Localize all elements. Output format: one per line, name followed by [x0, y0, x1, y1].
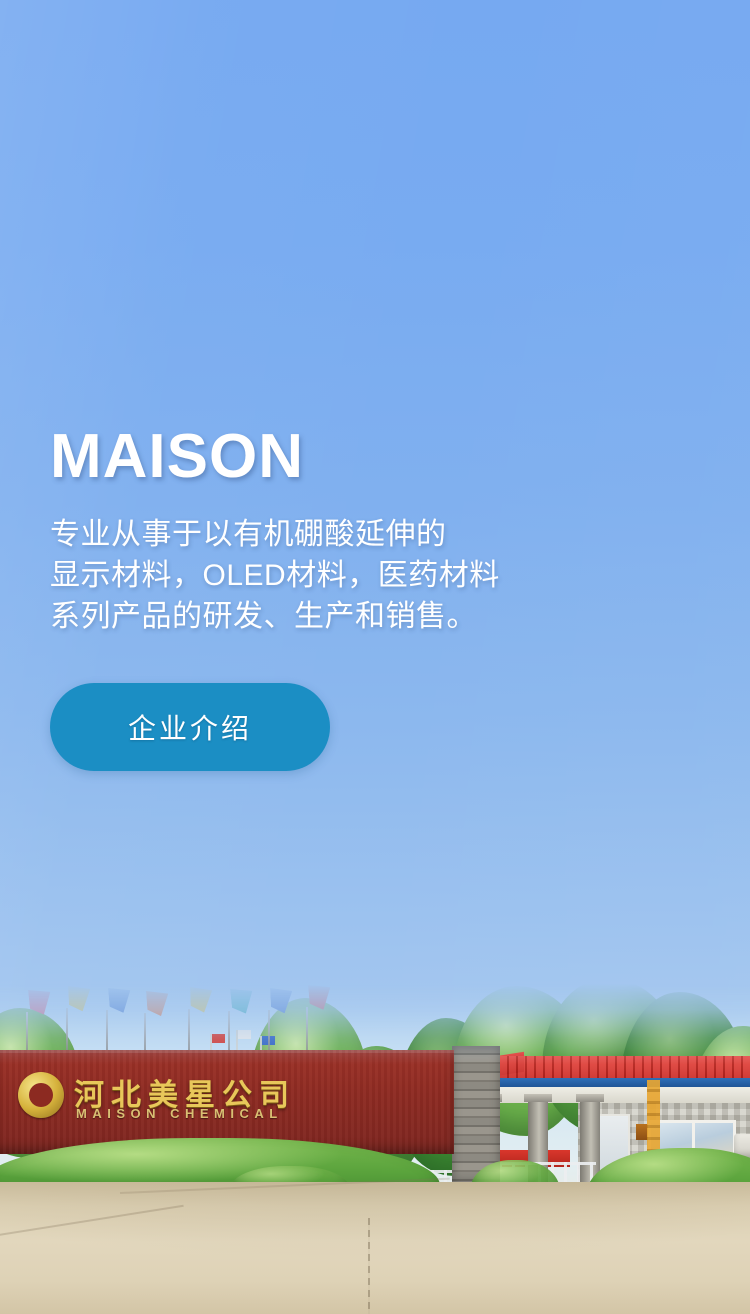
- company-name-english: MAISON CHEMICAL: [76, 1106, 283, 1121]
- flag: [146, 989, 170, 1016]
- tagline-line-2: 显示材料，OLED材料，医药材料: [50, 555, 690, 596]
- flag: [190, 986, 213, 1013]
- flag: [230, 987, 255, 1015]
- tagline-line-1: 专业从事于以有机硼酸延伸的: [50, 514, 690, 555]
- company-logo-icon: [18, 1072, 64, 1118]
- flag-pole: [306, 1007, 308, 1054]
- flag-pole: [144, 1013, 146, 1054]
- flag: [108, 986, 132, 1014]
- flag: [28, 988, 53, 1016]
- flag-pole: [26, 1012, 28, 1054]
- flag-pole: [106, 1010, 108, 1054]
- tagline-line-3: 系列产品的研发、生产和销售。: [50, 596, 690, 637]
- flag-pole: [188, 1009, 190, 1054]
- brand-title: MAISON: [50, 426, 690, 488]
- company-intro-button[interactable]: 企业介绍: [50, 683, 330, 771]
- pavement-ground: [0, 1182, 750, 1314]
- flag-pole: [268, 1010, 270, 1054]
- flag: [68, 985, 91, 1012]
- pavement-seam: [0, 1205, 184, 1238]
- hero-tagline: 专业从事于以有机硼酸延伸的 显示材料，OLED材料，医药材料 系列产品的研发、生…: [50, 514, 690, 637]
- flag-pole: [228, 1011, 230, 1054]
- hero-content: MAISON 专业从事于以有机硼酸延伸的 显示材料，OLED材料，医药材料 系列…: [50, 426, 690, 771]
- factory-entrance-photo: 河北美星公司 MAISON CHEMICAL: [0, 984, 750, 1314]
- flag: [308, 984, 332, 1011]
- flag-pole: [66, 1008, 68, 1054]
- hero-banner: 河北美星公司 MAISON CHEMICAL MAISON 专业从事于以有机硼酸…: [0, 0, 750, 1314]
- pavement-seam: [368, 1218, 370, 1314]
- flag-row: [0, 984, 470, 1054]
- wall-stone-pier: [452, 1046, 500, 1182]
- flag: [270, 987, 293, 1014]
